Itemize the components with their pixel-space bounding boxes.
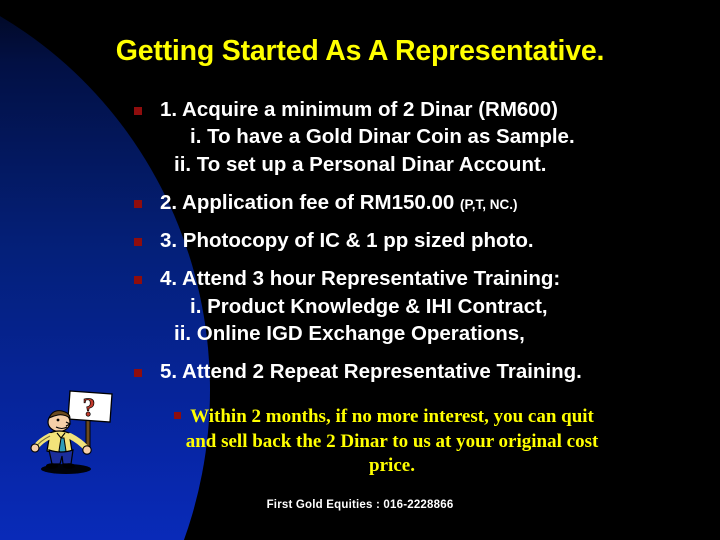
list-item-label: 4. Attend 3 hour Representative Training… [160,267,560,290]
list-subitem: ii. To set up a Personal Dinar Account. [160,151,648,178]
square-bullet-icon [174,412,181,419]
square-bullet-icon [134,107,142,115]
man-holding-question-sign-clipart: ? [26,388,118,476]
list-item-text: 1. Acquire a minimum of 2 Dinar (RM600) [160,96,648,123]
content-bullet-list: 1. Acquire a minimum of 2 Dinar (RM600) … [128,96,648,479]
list-subitem: ii. Online IGD Exchange Operations, [160,320,648,347]
list-item-label: 2. Application fee of RM150.00 [160,191,460,214]
list-item: 5. Attend 2 Repeat Representative Traini… [128,358,648,385]
list-item-label: 3. Photocopy of IC & 1 pp sized photo. [160,229,534,252]
square-bullet-icon [134,200,142,208]
list-item-label: 1. Acquire a minimum of 2 Dinar (RM600) [160,98,558,121]
page-title: Getting Started As A Representative. [0,36,720,67]
footer-contact: First Gold Equities : 016-2228866 [0,499,720,511]
question-mark-glyph: ? [83,393,96,422]
list-item: 4. Attend 3 hour Representative Training… [128,265,648,347]
square-bullet-icon [134,276,142,284]
list-item-label-suffix: (P,T, NC.) [460,197,518,212]
square-bullet-icon [134,369,142,377]
note-item: Within 2 months, if no more interest, yo… [128,405,648,479]
list-item-text: 2. Application fee of RM150.00 (P,T, NC.… [160,189,648,216]
list-subitem: i. Product Knowledge & IHI Contract, [160,293,648,320]
list-item-label: 5. Attend 2 Repeat Representative Traini… [160,360,582,383]
list-item-text: 4. Attend 3 hour Representative Training… [160,265,648,292]
note-text: Within 2 months, if no more interest, yo… [182,405,602,479]
list-subitem: i. To have a Gold Dinar Coin as Sample. [160,123,648,150]
square-bullet-icon [134,238,142,246]
list-item: 1. Acquire a minimum of 2 Dinar (RM600) … [128,96,648,178]
list-item: 3. Photocopy of IC & 1 pp sized photo. [128,227,648,254]
list-item: 2. Application fee of RM150.00 (P,T, NC.… [128,189,648,216]
list-item-text: 3. Photocopy of IC & 1 pp sized photo. [160,227,648,254]
list-item-text: 5. Attend 2 Repeat Representative Traini… [160,358,648,385]
slide-canvas: Getting Started As A Representative. 1. … [0,0,720,540]
